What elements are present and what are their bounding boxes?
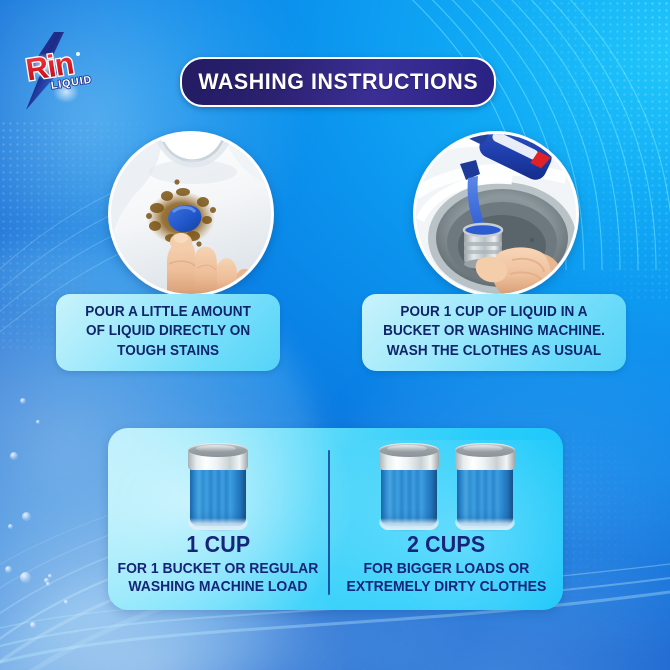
dosage-panel: 1 CUP FOR 1 BUCKET OR REGULAR WASHING MA…	[108, 428, 563, 610]
tshirt-stain-illustration	[111, 134, 271, 294]
page-title: WASHING INSTRUCTIONS	[198, 69, 478, 95]
caption-line: WASH THE CLOTHES AS USUAL	[387, 343, 602, 359]
caption-text: POUR A LITTLE AMOUNT OF LIQUID DIRECTLY …	[85, 303, 251, 360]
page-title-banner: WASHING INSTRUCTIONS	[180, 57, 496, 107]
measuring-cup-icon	[453, 444, 517, 530]
caption-line: OF LIQUID DIRECTLY ON	[86, 323, 250, 339]
caption-line: POUR A LITTLE AMOUNT	[85, 304, 251, 320]
caption-line: POUR 1 CUP OF LIQUID IN A	[400, 304, 587, 320]
step-caption-stain: POUR A LITTLE AMOUNT OF LIQUID DIRECTLY …	[56, 294, 280, 371]
tshirt-stain-photo	[108, 131, 274, 297]
pour-into-cup-photo	[413, 131, 579, 297]
cup-group-single	[186, 428, 250, 530]
step-caption-machine: POUR 1 CUP OF LIQUID IN A BUCKET OR WASH…	[362, 294, 626, 371]
dose-two-cups: 2 CUPS FOR BIGGER LOADS OR EXTREMELY DIR…	[330, 428, 563, 610]
dose-one-cup: 1 CUP FOR 1 BUCKET OR REGULAR WASHING MA…	[108, 428, 328, 610]
dose-subtitle: FOR BIGGER LOADS OR EXTREMELY DIRTY CLOT…	[347, 560, 547, 595]
measuring-cup-icon	[186, 444, 250, 530]
dose-title: 2 CUPS	[407, 531, 485, 558]
measuring-cup-icon	[377, 444, 441, 530]
pour-into-cup-illustration	[416, 134, 576, 294]
dose-title: 1 CUP	[186, 531, 250, 558]
caption-line: BUCKET OR WASHING MACHINE.	[383, 323, 605, 339]
dose-subtitle-line: FOR BIGGER LOADS OR	[364, 560, 530, 577]
caption-text: POUR 1 CUP OF LIQUID IN A BUCKET OR WASH…	[383, 303, 605, 360]
dose-subtitle-line: WASHING MACHINE LOAD	[128, 578, 307, 595]
cup-group-double	[377, 428, 517, 530]
caption-line: TOUGH STAINS	[117, 343, 219, 359]
dose-subtitle-line: FOR 1 BUCKET OR REGULAR	[118, 560, 319, 577]
poster-canvas: Rin LIQUID WASHING INSTRUCTIONS	[0, 0, 670, 670]
dose-subtitle: FOR 1 BUCKET OR REGULAR WASHING MACHINE …	[118, 560, 319, 595]
dose-subtitle-line: EXTREMELY DIRTY CLOTHES	[347, 578, 547, 595]
rin-lightning-logo: Rin LIQUID	[14, 30, 98, 112]
